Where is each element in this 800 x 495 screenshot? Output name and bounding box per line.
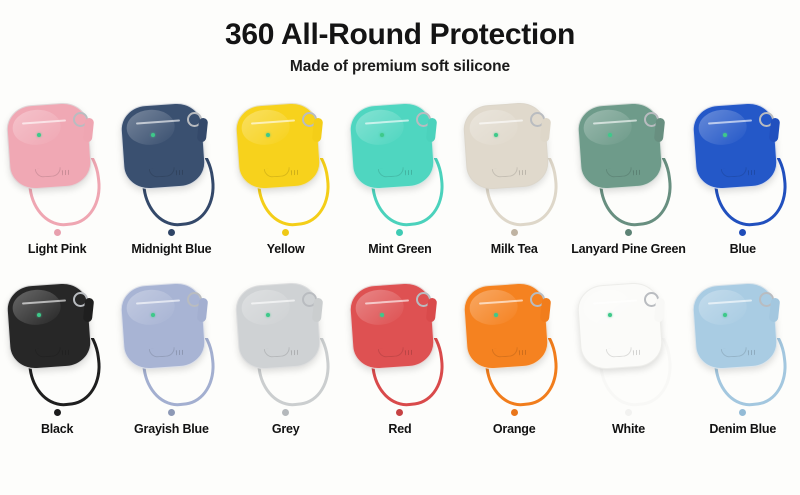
color-option-grey[interactable]: Grey — [229, 272, 343, 452]
speaker-grill-icon — [519, 170, 528, 176]
speaker-grill-icon — [176, 170, 185, 176]
color-name-label: Grayish Blue — [134, 422, 209, 436]
color-name-label: Light Pink — [28, 242, 86, 256]
color-name-label: Milk Tea — [491, 242, 538, 256]
color-name-label: Blue — [730, 242, 756, 256]
status-led-indicator — [380, 313, 384, 317]
color-swatch-dot[interactable] — [282, 229, 289, 236]
speaker-grill-icon — [633, 350, 642, 356]
airpods-case-image — [114, 272, 228, 407]
color-option-red[interactable]: Red — [343, 272, 457, 452]
status-led-indicator — [266, 133, 270, 137]
speaker-grill-icon — [176, 350, 185, 356]
speaker-grill-icon — [405, 350, 414, 356]
page-header: 360 All-Round Protection Made of premium… — [0, 0, 800, 76]
color-swatch-dot[interactable] — [396, 229, 403, 236]
color-option-mint-green[interactable]: Mint Green — [343, 92, 457, 272]
status-led-indicator — [266, 313, 270, 317]
speaker-grill-icon — [405, 170, 414, 176]
color-option-midnight-blue[interactable]: Midnight Blue — [114, 92, 228, 272]
color-swatch-dot[interactable] — [168, 409, 175, 416]
page-title: 360 All-Round Protection — [0, 18, 800, 51]
color-name-label: Midnight Blue — [131, 242, 211, 256]
airpods-case-image — [686, 272, 800, 407]
airpods-case-image — [457, 272, 571, 407]
color-option-white[interactable]: White — [571, 272, 685, 452]
airpods-case-image — [343, 92, 457, 227]
color-swatch-dot[interactable] — [739, 229, 746, 236]
airpods-case-image — [229, 92, 343, 227]
color-option-orange[interactable]: Orange — [457, 272, 571, 452]
color-swatch-dot[interactable] — [625, 409, 632, 416]
color-swatch-dot[interactable] — [511, 229, 518, 236]
status-led-indicator — [723, 313, 727, 317]
speaker-grill-icon — [62, 170, 71, 176]
speaker-grill-icon — [748, 350, 757, 356]
airpods-case-image — [114, 92, 228, 227]
color-option-grayish-blue[interactable]: Grayish Blue — [114, 272, 228, 452]
speaker-grill-icon — [519, 350, 528, 356]
color-option-denim-blue[interactable]: Denim Blue — [686, 272, 800, 452]
airpods-case-image — [686, 92, 800, 227]
color-swatch-dot[interactable] — [396, 409, 403, 416]
airpods-case-image — [571, 92, 685, 227]
color-swatch-dot[interactable] — [54, 229, 61, 236]
speaker-grill-icon — [748, 170, 757, 176]
color-name-label: Grey — [272, 422, 300, 436]
color-swatch-grid: Light PinkMidnight BlueYellowMint GreenM… — [0, 92, 800, 452]
color-swatch-dot[interactable] — [625, 229, 632, 236]
color-name-label: Orange — [493, 422, 536, 436]
status-led-indicator — [723, 133, 727, 137]
color-option-lanyard-pine-green[interactable]: Lanyard Pine Green — [571, 92, 685, 272]
page-subtitle: Made of premium soft silicone — [0, 58, 800, 76]
speaker-grill-icon — [290, 350, 299, 356]
color-name-label: Black — [41, 422, 73, 436]
speaker-grill-icon — [633, 170, 642, 176]
color-option-yellow[interactable]: Yellow — [229, 92, 343, 272]
color-row: BlackGrayish BlueGreyRedOrangeWhiteDenim… — [0, 272, 800, 452]
color-swatch-dot[interactable] — [168, 229, 175, 236]
color-option-milk-tea[interactable]: Milk Tea — [457, 92, 571, 272]
color-option-blue[interactable]: Blue — [686, 92, 800, 272]
speaker-grill-icon — [62, 350, 71, 356]
color-swatch-dot[interactable] — [54, 409, 61, 416]
speaker-grill-icon — [290, 170, 299, 176]
color-swatch-dot[interactable] — [739, 409, 746, 416]
color-row: Light PinkMidnight BlueYellowMint GreenM… — [0, 92, 800, 272]
color-name-label: Lanyard Pine Green — [571, 242, 686, 256]
airpods-case-image — [229, 272, 343, 407]
airpods-case-image — [457, 92, 571, 227]
airpods-case-image — [0, 92, 114, 227]
color-name-label: Red — [388, 422, 411, 436]
color-name-label: White — [612, 422, 645, 436]
status-led-indicator — [380, 133, 384, 137]
color-swatch-dot[interactable] — [282, 409, 289, 416]
color-option-light-pink[interactable]: Light Pink — [0, 92, 114, 272]
color-option-black[interactable]: Black — [0, 272, 114, 452]
color-swatch-dot[interactable] — [511, 409, 518, 416]
airpods-case-image — [0, 272, 114, 407]
color-name-label: Denim Blue — [709, 422, 776, 436]
color-name-label: Mint Green — [368, 242, 431, 256]
airpods-case-image — [571, 272, 685, 407]
airpods-case-image — [343, 272, 457, 407]
color-name-label: Yellow — [267, 242, 305, 256]
